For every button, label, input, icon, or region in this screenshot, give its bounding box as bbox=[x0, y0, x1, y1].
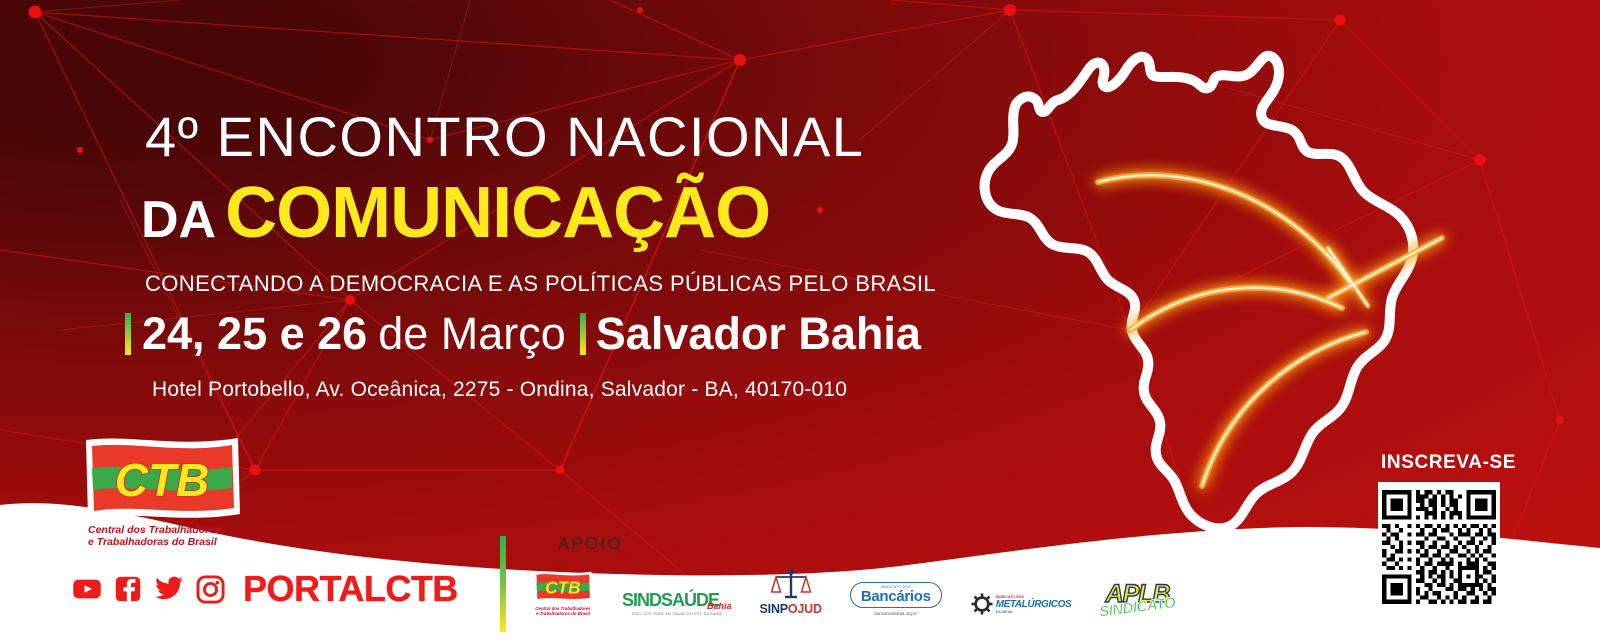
partner-logo-sinpojud: SINPOJUD bbox=[760, 566, 822, 616]
headline-comunicacao: COMUNICAÇÃO bbox=[225, 172, 770, 254]
metalurgicos-name: METALÚRGICOS bbox=[996, 599, 1072, 610]
ctb-tagline: Central dos Trabalhadores e Trabalhadora… bbox=[88, 524, 248, 548]
ctb-tagline-2: e Trabalhadoras do Brasil bbox=[88, 536, 248, 548]
accent-bar-right bbox=[580, 313, 586, 355]
event-banner: 4º ENCONTRO NACIONAL DA COMUNICAÇÃO CONE… bbox=[0, 0, 1600, 642]
metalurgicos-sub: DA BAHIA bbox=[996, 610, 1072, 614]
sindsaude-name: SINDSAÚDE bbox=[622, 590, 719, 611]
youtube-icon[interactable] bbox=[72, 574, 102, 604]
svg-text:CTB: CTB bbox=[545, 577, 580, 597]
instagram-icon[interactable] bbox=[195, 574, 225, 604]
qr-code-image[interactable] bbox=[1378, 482, 1500, 612]
sinpojud-part1: SINP bbox=[760, 602, 788, 616]
svg-text:CTB: CTB bbox=[115, 454, 210, 506]
accent-bar-left bbox=[125, 313, 131, 355]
event-month: de Março bbox=[378, 308, 566, 360]
partner-ctb-tagline: Central dos Trabalhadores e Trabalhadora… bbox=[535, 606, 591, 616]
ctb-flag: CTB bbox=[80, 434, 245, 524]
event-subtitle: CONECTANDO A DEMOCRACIA E AS POLÍTICAS P… bbox=[145, 271, 936, 297]
qr-code[interactable] bbox=[1378, 482, 1500, 612]
partner-logo-aplb: APLB SINDICATO bbox=[1099, 582, 1176, 616]
headline-line-1: 4º ENCONTRO NACIONAL bbox=[145, 104, 864, 169]
event-date-location: 24, 25 e 26 de Março Salvador Bahia bbox=[125, 308, 921, 360]
sindsaude-suffix: Bahia bbox=[707, 601, 732, 611]
ctb-logo: CTB Central dos Trabalhadores e Trabalha… bbox=[80, 434, 245, 552]
event-dates: 24, 25 e 26 bbox=[142, 308, 367, 360]
partner-logo-bancarios: SINDICATO DOS Bancários bancariosbahia.o… bbox=[850, 582, 942, 616]
support-section: APOIO CTB Central dos Trabalhadores e Tr… bbox=[500, 530, 1176, 632]
scales-of-justice-icon bbox=[771, 566, 811, 600]
registration-label: INSCREVA-SE bbox=[1381, 452, 1516, 474]
bancarios-name: Bancários bbox=[861, 589, 931, 604]
facebook-icon[interactable] bbox=[113, 574, 143, 604]
twitter-icon[interactable] bbox=[154, 574, 184, 604]
headline-da: DA bbox=[141, 190, 216, 250]
apoio-title: APOIO bbox=[558, 534, 1176, 554]
event-address: Hotel Portobello, Av. Oceânica, 2275 - O… bbox=[152, 378, 847, 402]
sinpojud-part2: OJUD bbox=[788, 602, 822, 616]
ctb-tagline-1: Central dos Trabalhadores bbox=[88, 524, 248, 536]
social-handle[interactable]: PORTALCTB bbox=[243, 568, 458, 610]
sindsaude-fine-print: SIND. DOS TRAB. EM SAÚDE DO EST. DA BAHI… bbox=[632, 612, 722, 616]
partner-logo-metalurgicos: SINDICATO DOS METALÚRGICOS DA BAHIA bbox=[970, 592, 1072, 616]
gear-icon bbox=[970, 592, 994, 616]
social-links[interactable]: PORTALCTB bbox=[72, 568, 458, 610]
event-city: Salvador Bahia bbox=[596, 308, 921, 360]
headline-line-2: DA COMUNICAÇÃO bbox=[141, 172, 770, 254]
partner-logo-sindsaude: SINDSAÚDE Bahia SIND. DOS TRAB. EM SAÚDE… bbox=[622, 590, 732, 616]
bancarios-url: bancariosbahia.org.br bbox=[875, 611, 917, 616]
partner-logo-ctb: CTB Central dos Trabalhadores e Trabalha… bbox=[532, 570, 594, 616]
apoio-divider bbox=[500, 536, 506, 632]
